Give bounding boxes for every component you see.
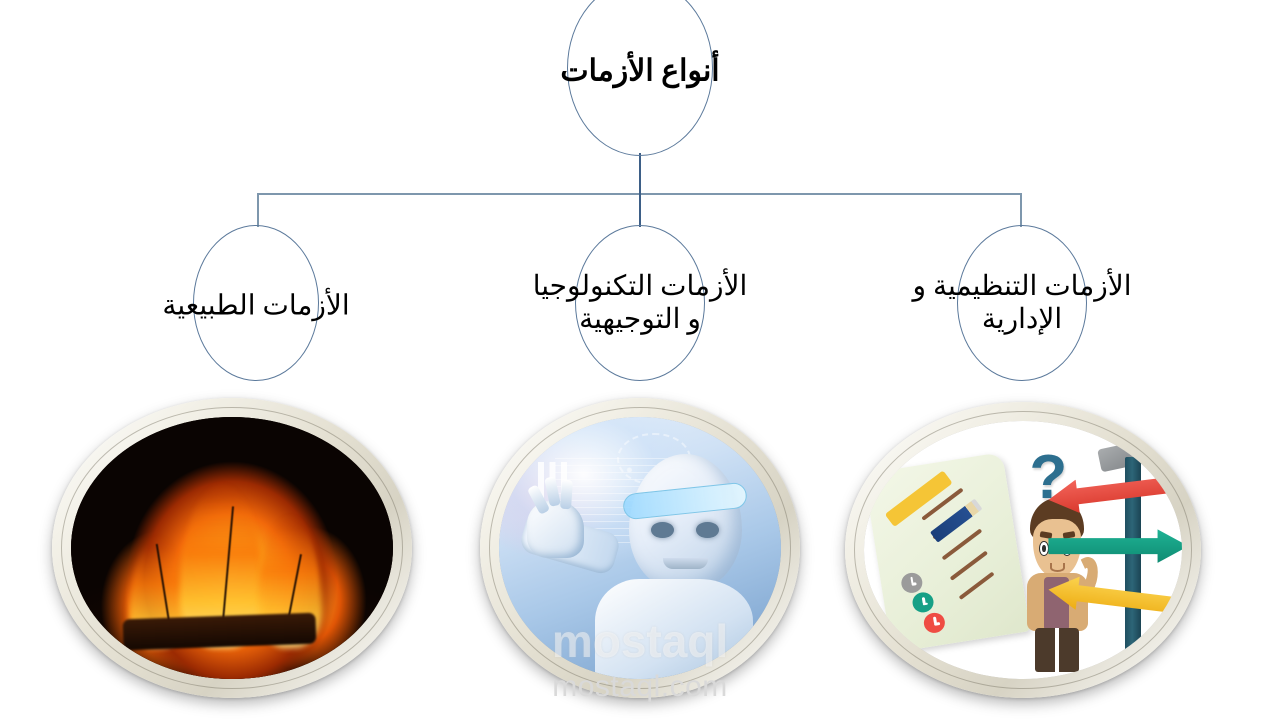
node-natural-label: الأزمات الطبيعية — [91, 290, 421, 323]
node-technological-label: الأزمات التكنولوجيا و التوجيهية — [475, 270, 805, 336]
document-text-line — [949, 551, 987, 581]
robot-eye-right — [696, 522, 719, 538]
person-mouth — [1050, 563, 1065, 572]
node-technological-crises[interactable]: الأزمات التكنولوجيا و التوجيهية — [575, 225, 705, 381]
administrative-crisis-image: ? — [864, 421, 1182, 679]
checklist-document-icon — [864, 452, 1030, 652]
node-organizational-label: الأزمات التنظيمية و الإدارية — [857, 270, 1187, 336]
robot-image — [499, 417, 781, 679]
node-root-label: أنواع الأزمات — [430, 54, 850, 89]
clock-icon-gray — [899, 571, 923, 594]
person-legs — [1035, 628, 1080, 672]
robot-oval-picture[interactable] — [480, 398, 800, 698]
confused-person-illustration — [1017, 498, 1100, 668]
clock-icon-red — [923, 612, 947, 635]
clock-icon-teal — [911, 592, 935, 615]
node-root-crisis-types[interactable]: أنواع الأزمات — [567, 0, 713, 156]
document-text-line — [958, 572, 994, 600]
document-highlight-bar — [884, 471, 952, 528]
person-eye-left — [1039, 541, 1049, 556]
node-natural-crises[interactable]: الأزمات الطبيعية — [193, 225, 319, 381]
robot-finger-3 — [560, 480, 573, 510]
wildfire-image — [71, 417, 393, 679]
connector-drop-natural — [257, 193, 259, 227]
node-organizational-crises[interactable]: الأزمات التنظيمية و الإدارية — [957, 225, 1087, 381]
connector-drop-technological — [639, 193, 641, 227]
robot-body — [595, 579, 753, 679]
robot-eye-left — [651, 522, 674, 538]
robot-hand — [527, 501, 583, 559]
connector-root-stem — [639, 153, 641, 195]
robot-mouth — [663, 558, 708, 568]
wildfire-oval-picture[interactable] — [52, 398, 412, 698]
connector-drop-organizational — [1020, 193, 1022, 227]
slide-canvas: أنواع الأزمات الأزمات الطبيعية الأزمات ا… — [0, 0, 1280, 720]
administrative-crisis-oval-picture[interactable]: ? — [845, 402, 1201, 698]
